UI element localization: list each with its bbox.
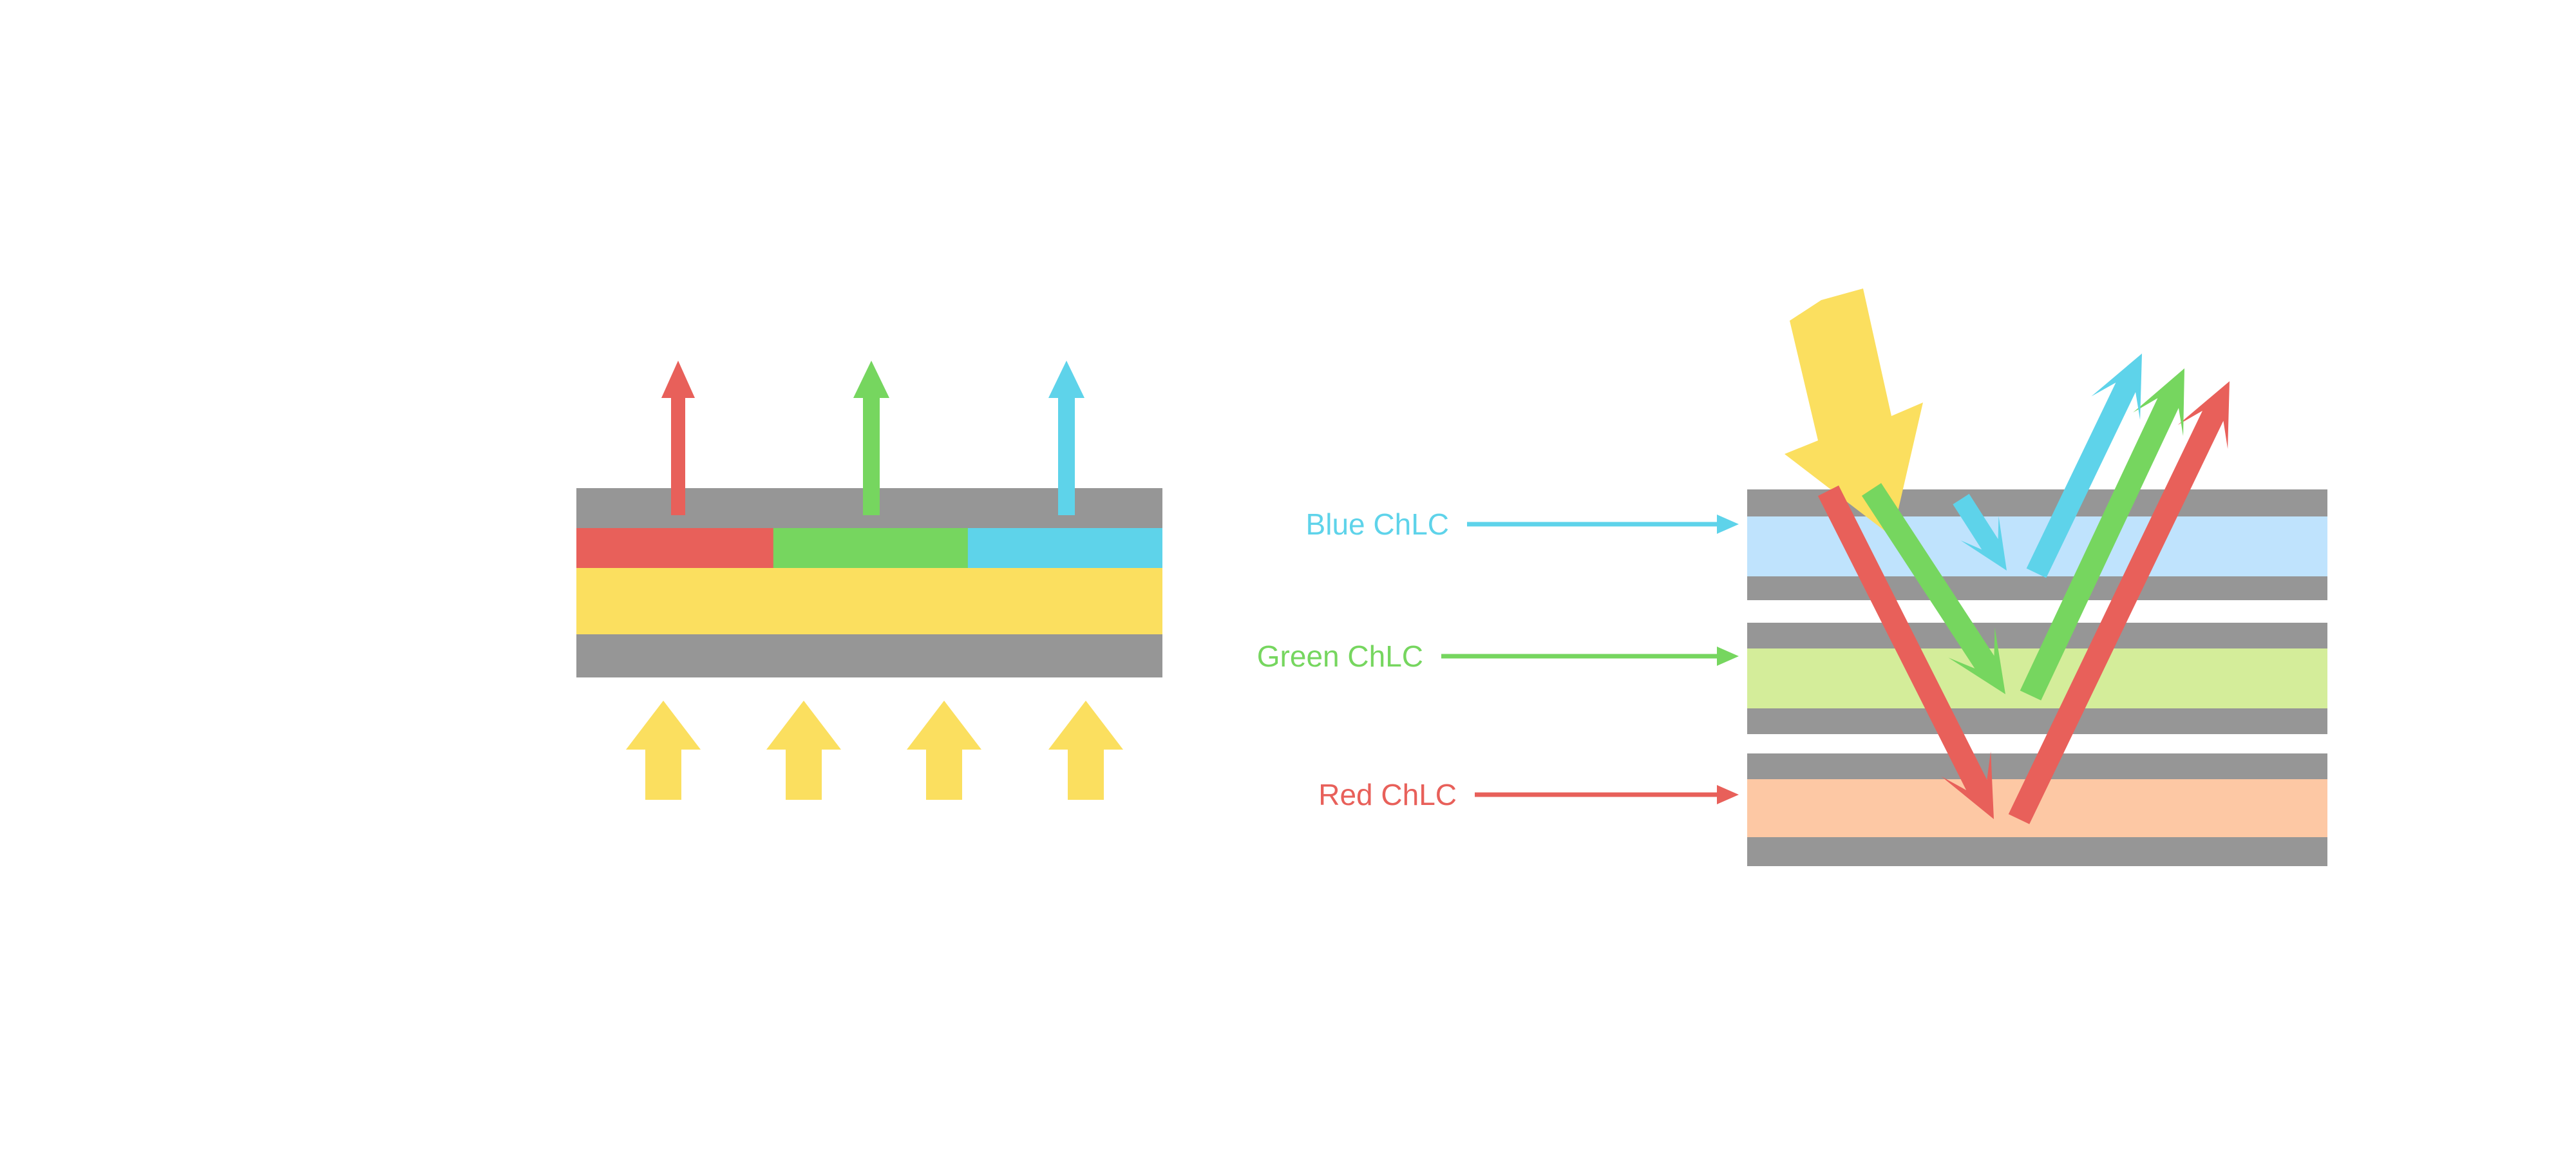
chlc-labels-group: Blue ChLC Green ChLC Red ChLC xyxy=(1257,507,1739,811)
blue-chlc-label: Blue ChLC xyxy=(1306,507,1449,541)
label-layer: Blue ChLC Green ChLC Red ChLC xyxy=(0,0,2576,1154)
blue-chlc-label-arrow-icon xyxy=(1467,515,1739,534)
red-chlc-label: Red ChLC xyxy=(1318,778,1457,811)
red-chlc-label-arrow-icon xyxy=(1475,785,1739,804)
diagram-canvas: Blue ChLC Green ChLC Red ChLC xyxy=(0,0,2576,1154)
green-chlc-label: Green ChLC xyxy=(1257,639,1423,673)
green-chlc-label-arrow-icon xyxy=(1441,647,1739,666)
